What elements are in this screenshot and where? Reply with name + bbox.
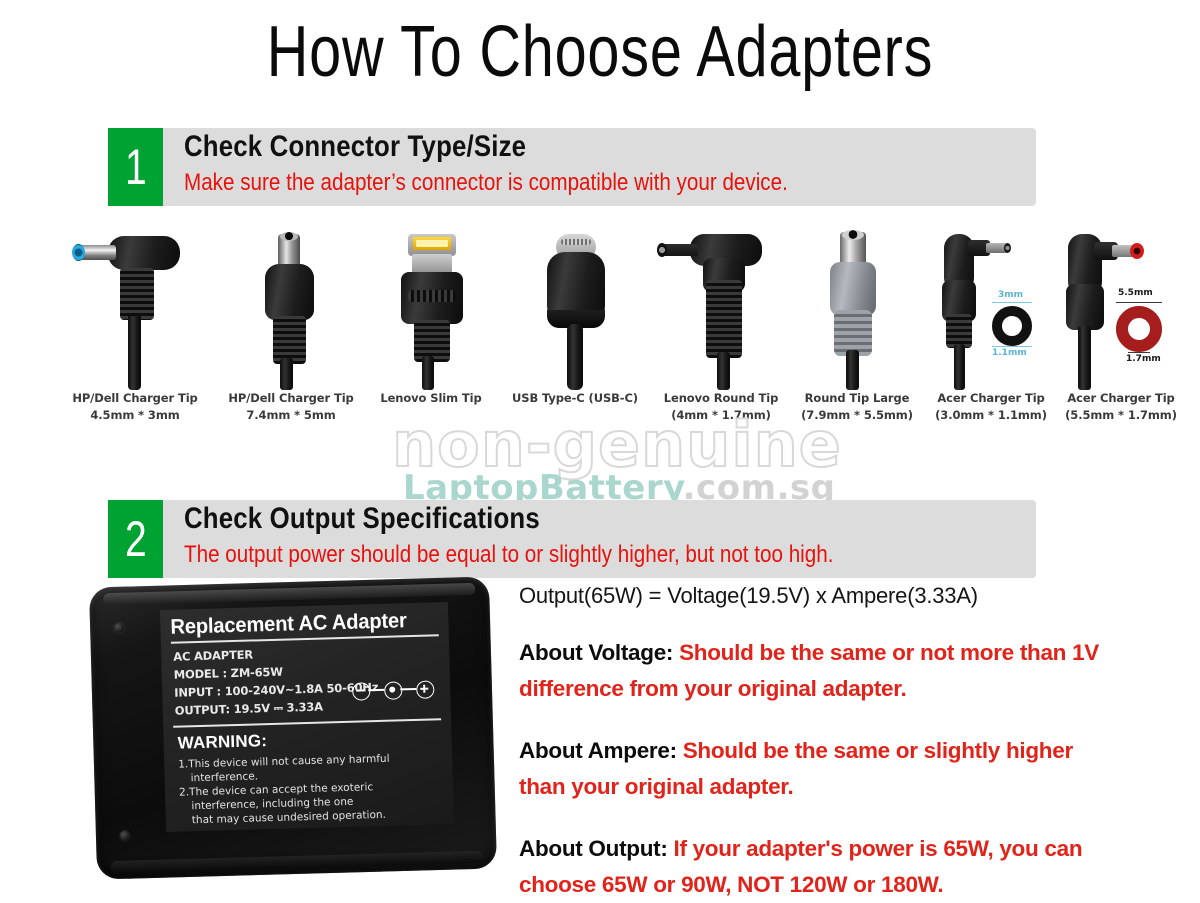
section-1-header: 1 Check Connector Type/Size Make sure th… <box>108 128 1036 206</box>
connector-name-4: USB Type-C (USB-C) <box>512 391 638 405</box>
connector-caption-1: HP/Dell Charger Tip 4.5mm * 3mm <box>48 390 222 424</box>
tip-measure-ring-large <box>1116 306 1162 352</box>
spec-item-ampere: About Ampere: Should be the same or slig… <box>519 733 1119 805</box>
spec-key-output: About Output: <box>519 836 668 861</box>
label-line-1: AC ADAPTER <box>173 647 253 663</box>
section-2-title: Check Output Specifications <box>184 502 540 536</box>
lenovo-round-right-angle-tip-icon <box>646 228 796 390</box>
page-title: How To Choose Adapters <box>120 8 1080 96</box>
label-line-3: INPUT : 100-240V~1.8A 50-60Hz <box>174 680 378 700</box>
connector-name-1: HP/Dell Charger Tip <box>72 391 197 405</box>
connector-name-5: Lenovo Round Tip <box>664 391 778 405</box>
spec-item-voltage: About Voltage: Should be the same or not… <box>519 635 1119 707</box>
tip-measure-ring-small <box>992 306 1032 346</box>
adapter-screw-top <box>114 623 124 633</box>
adapter-screw-bottom <box>120 831 130 841</box>
connector-item-3[interactable]: Lenovo Slim Tip <box>356 228 506 438</box>
lenovo-slim-rectangular-tip-icon <box>356 228 506 390</box>
label-line-2: MODEL : ZM-65W <box>174 665 283 682</box>
label-warning-heading: WARNING: <box>177 731 267 753</box>
section-1-number: 1 <box>125 128 147 206</box>
connector-name-2: HP/Dell Charger Tip <box>228 391 353 405</box>
usb-type-c-plug-icon <box>500 228 650 390</box>
adapter-bottom-edge <box>111 851 483 873</box>
output-spec-text: Output(65W) = Voltage(19.5V) x Ampere(3.… <box>519 583 1119 903</box>
output-equation: Output(65W) = Voltage(19.5V) x Ampere(3.… <box>519 583 1119 609</box>
connector-item-4[interactable]: USB Type-C (USB-C) <box>500 228 650 438</box>
infographic-page: How To Choose Adapters 1 Check Connector… <box>0 0 1200 900</box>
round-tip-large-gray-icon <box>782 228 932 390</box>
connector-name-8: Acer Charger Tip <box>1067 391 1174 405</box>
spec-item-output: About Output: If your adapter's power is… <box>519 831 1119 903</box>
section-1-badge: 1 <box>108 128 163 206</box>
spec-key-ampere: About Ampere: <box>519 738 677 763</box>
spec-key-voltage: About Voltage: <box>519 640 673 665</box>
connector-item-1[interactable]: HP/Dell Charger Tip 4.5mm * 3mm <box>60 228 210 438</box>
connector-caption-8: Acer Charger Tip (5.5mm * 1.7mm) <box>1034 390 1200 424</box>
label-rule-mid <box>173 718 441 727</box>
label-line-4: OUTPUT: 19.5V ⎓ 3.33A <box>175 700 323 719</box>
ac-adapter-photo: Replacement AC Adapter AC ADAPTER MODEL … <box>85 570 505 900</box>
tip-measure-outer-large: 5.5mm <box>1118 288 1153 298</box>
hp-dell-straight-tip-icon <box>216 228 366 390</box>
section-1-title: Check Connector Type/Size <box>184 130 526 164</box>
hp-dell-right-angle-blue-tip-icon <box>60 228 210 390</box>
connector-size-7: (3.0mm * 1.1mm) <box>935 408 1047 422</box>
acer-right-angle-red-tip-icon: 5.5mm 1.7mm <box>1046 228 1196 390</box>
connector-size-8: (5.5mm * 1.7mm) <box>1065 408 1177 422</box>
connector-gallery: HP/Dell Charger Tip 4.5mm * 3mm HP/Dell … <box>60 228 1150 438</box>
connector-size-2: 7.4mm * 5mm <box>246 408 335 422</box>
section-2-header: 2 Check Output Specifications The output… <box>108 500 1036 578</box>
connector-size-1: 4.5mm * 3mm <box>90 408 179 422</box>
tip-measure-inner-small: 1.1mm <box>992 348 1027 358</box>
section-2-badge: 2 <box>108 500 163 578</box>
adapter-spec-label: Replacement AC Adapter AC ADAPTER MODEL … <box>160 602 454 832</box>
tip-measure-outer-small: 3mm <box>998 290 1023 300</box>
section-2-subtitle: The output power should be equal to or s… <box>184 541 833 569</box>
label-warning-line-1: 1.This device will not cause any harmful <box>178 752 390 772</box>
connector-name-7: Acer Charger Tip <box>937 391 1044 405</box>
tip-measure-inner-large: 1.7mm <box>1126 354 1161 364</box>
connector-name-3: Lenovo Slim Tip <box>380 391 481 405</box>
connector-item-8[interactable]: 5.5mm 1.7mm Acer Charger Tip (5.5mm * 1.… <box>1046 228 1196 438</box>
polarity-symbol-icon <box>352 678 445 701</box>
connector-name-6: Round Tip Large <box>805 391 910 405</box>
section-1-subtitle: Make sure the adapter’s connector is com… <box>184 169 788 197</box>
section-2-number: 2 <box>125 500 147 578</box>
acer-right-angle-small-tip-icon: 3mm 1.1mm <box>916 228 1066 390</box>
